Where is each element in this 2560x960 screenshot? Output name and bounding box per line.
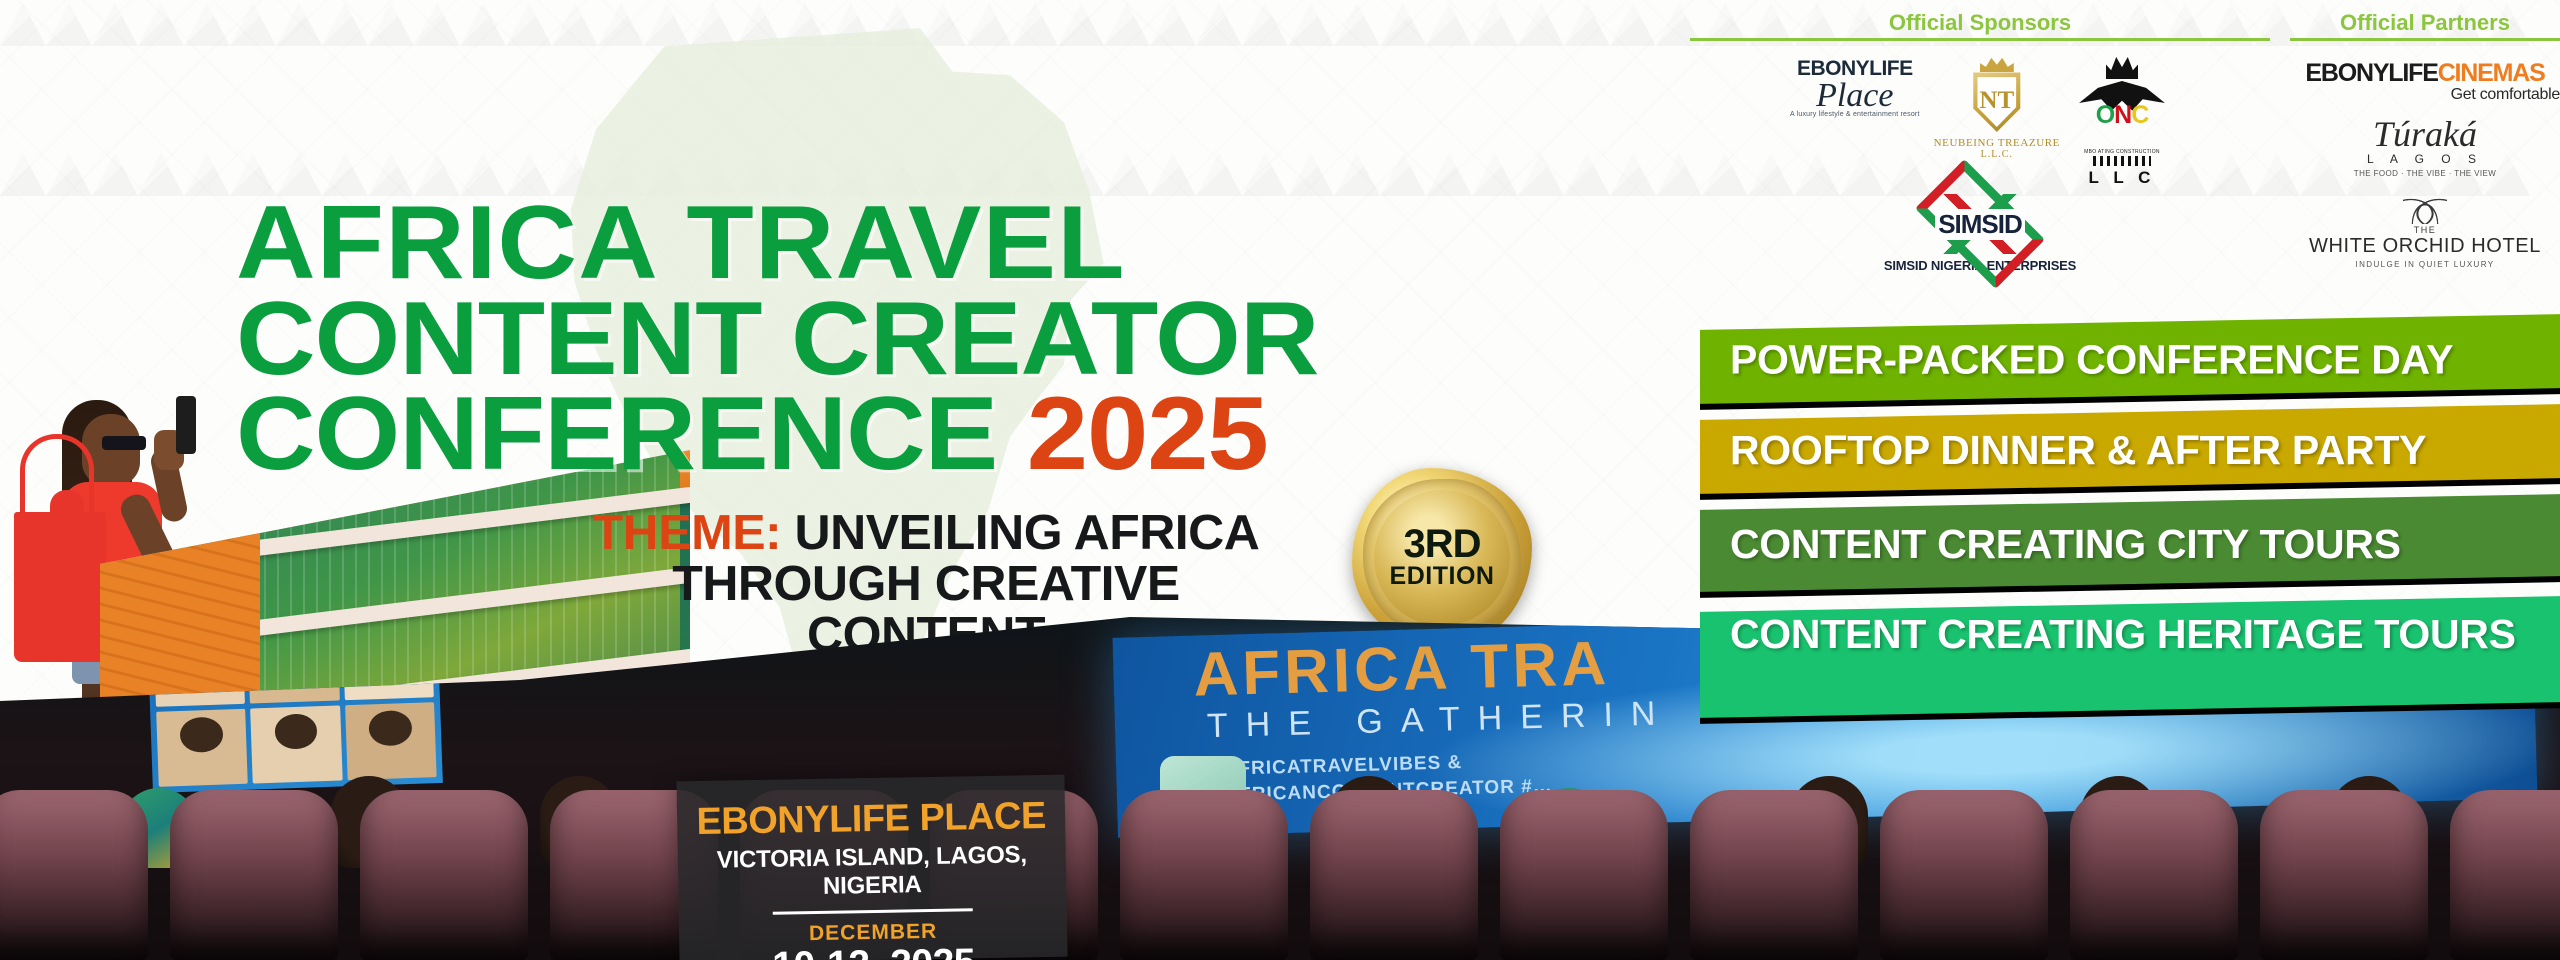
elc-part1: EBONYLIFE: [2305, 59, 2437, 87]
ebonylife-place-tagline: A luxury lifestyle & entertainment resor…: [1790, 111, 1920, 118]
partner-logo-turaka-lagos: Túraká L A G O S THE FOOD · THE VIBE · …: [2290, 118, 2560, 178]
turaka-tagline: THE FOOD · THE VIBE · THE VIEW: [2290, 169, 2560, 178]
cinema-seats: [0, 730, 2560, 960]
feature-label: ROOFTOP DINNER & AFTER PARTY: [1730, 429, 2426, 472]
seal-edition-word: EDITION: [1390, 562, 1495, 591]
orchid-flower-icon: [2403, 190, 2447, 224]
onc-letters: ONC: [2074, 101, 2170, 130]
orchid-tagline: INDULGE IN QUIET LUXURY: [2290, 260, 2560, 269]
sponsor-logo-onc-construction: ONC MBO ATING CONSTRUCTION L L C: [2074, 57, 2170, 188]
feature-label: CONTENT CREATING HERITAGE TOURS: [1730, 613, 2516, 656]
headline-line-1: AFRICA TRAVEL: [236, 196, 1487, 292]
ebonylife-cinemas-wordmark: EBONYLIFECINEMAS: [2290, 59, 2560, 88]
nt-monogram: NT: [1979, 87, 2014, 115]
headline-line-2: CONTENT CREATOR: [236, 292, 1487, 388]
official-sponsors-section: Official Sponsors EBONYLIFE Place A luxu…: [1690, 10, 2270, 273]
sponsors-logo-row: EBONYLIFE Place A luxury lifestyle & ent…: [1690, 57, 2270, 188]
venue-divider: [773, 908, 973, 914]
event-banner: AFRICA TRAVEL CONTENT CREATOR CONFERENCE…: [0, 0, 2560, 960]
sponsors-logo-row-2: SIMSID SIMSID NIGERIA ENTERPRISES: [1690, 194, 2270, 273]
feature-highlights-list: POWER-PACKED CONFERENCE DAY ROOFTOP DINN…: [1700, 322, 2560, 722]
simsid-diamond-icon: SIMSID: [1928, 194, 2032, 254]
seal-edition-number: 3RD: [1403, 526, 1480, 562]
onc-llc: L L C: [2074, 168, 2170, 188]
venue-location: VICTORIA ISLAND, LAGOS, NIGERIA: [688, 841, 1057, 903]
phone-icon: [176, 396, 196, 454]
crown-icon: [2106, 57, 2138, 79]
headline-year: 2025: [1027, 376, 1268, 492]
theme-line-1: THEME: UNVEILING AFRICA: [549, 508, 1304, 559]
seal-inner-disc: 3RD EDITION: [1374, 490, 1510, 626]
feature-bar-rooftop-dinner[interactable]: ROOFTOP DINNER & AFTER PARTY: [1700, 404, 2560, 494]
venue-info-box: EBONYLIFE PLACE VICTORIA ISLAND, LAGOS, …: [676, 775, 1067, 960]
neubeing-llc: L.L.C.: [1934, 149, 2060, 160]
orchid-the-word: THE: [2290, 225, 2560, 235]
official-partners-section: Official Partners EBONYLIFECINEMAS Get c…: [2290, 10, 2560, 269]
elc-part2: CINEMAS: [2438, 59, 2545, 87]
event-headline: AFRICA TRAVEL CONTENT CREATOR CONFERENCE…: [236, 196, 1416, 483]
ebonylife-place-script: Place: [1790, 82, 1920, 109]
onc-subtext: MBO ATING CONSTRUCTION: [2074, 149, 2170, 155]
feature-bar-heritage-tours[interactable]: CONTENT CREATING HERITAGE TOURS: [1700, 596, 2560, 718]
turaka-wordmark: Túraká: [2290, 118, 2560, 150]
shield-icon: NT: [1969, 70, 2025, 132]
theme-label: THEME:: [593, 506, 782, 560]
feature-label: CONTENT CREATING CITY TOURS: [1730, 523, 2401, 566]
partner-logo-ebonylife-cinemas: EBONYLIFECINEMAS Get comfortable: [2290, 59, 2560, 104]
headline-conference-word: CONFERENCE: [236, 376, 997, 492]
tote-bag: [14, 512, 106, 662]
logos-area: Official Sponsors EBONYLIFE Place A luxu…: [1690, 0, 2560, 310]
official-sponsors-heading: Official Sponsors: [1690, 10, 2270, 41]
partner-logo-white-orchid-hotel: THE WHITE ORCHID HOTEL INDULGE IN QUIET …: [2290, 190, 2560, 269]
neubeing-name: NEUBEING TREAZURE: [1934, 137, 2060, 149]
feature-bar-city-tours[interactable]: CONTENT CREATING CITY TOURS: [1700, 494, 2560, 592]
simsid-wordmark: SIMSID: [1935, 209, 2025, 240]
official-partners-heading: Official Partners: [2290, 10, 2560, 41]
feature-label: POWER-PACKED CONFERENCE DAY: [1730, 338, 2453, 381]
feature-bar-conference-day[interactable]: POWER-PACKED CONFERENCE DAY: [1700, 314, 2560, 404]
venue-name: EBONYLIFE PLACE: [687, 797, 1056, 841]
turaka-location: L A G O S: [2290, 152, 2560, 166]
theme-text-1: UNVEILING AFRICA: [795, 506, 1260, 560]
sponsor-logo-neubeing-treazure: NT NEUBEING TREAZURE L.L.C.: [1934, 57, 2060, 160]
orchid-name: WHITE ORCHID HOTEL: [2290, 235, 2560, 258]
sponsor-logo-simsid: SIMSID SIMSID NIGERIA ENTERPRISES: [1884, 194, 2076, 273]
crown-icon: [1980, 57, 2014, 72]
headline-line-3: CONFERENCE 2025: [236, 387, 1487, 483]
sponsor-logo-ebonylife-place: EBONYLIFE Place A luxury lifestyle & ent…: [1790, 57, 1920, 118]
ebonylife-cinemas-tagline: Get comfortable: [2290, 86, 2560, 104]
skyline-icon: [2093, 156, 2151, 166]
third-edition-seal-badge: 3RD EDITION: [1352, 468, 1532, 648]
